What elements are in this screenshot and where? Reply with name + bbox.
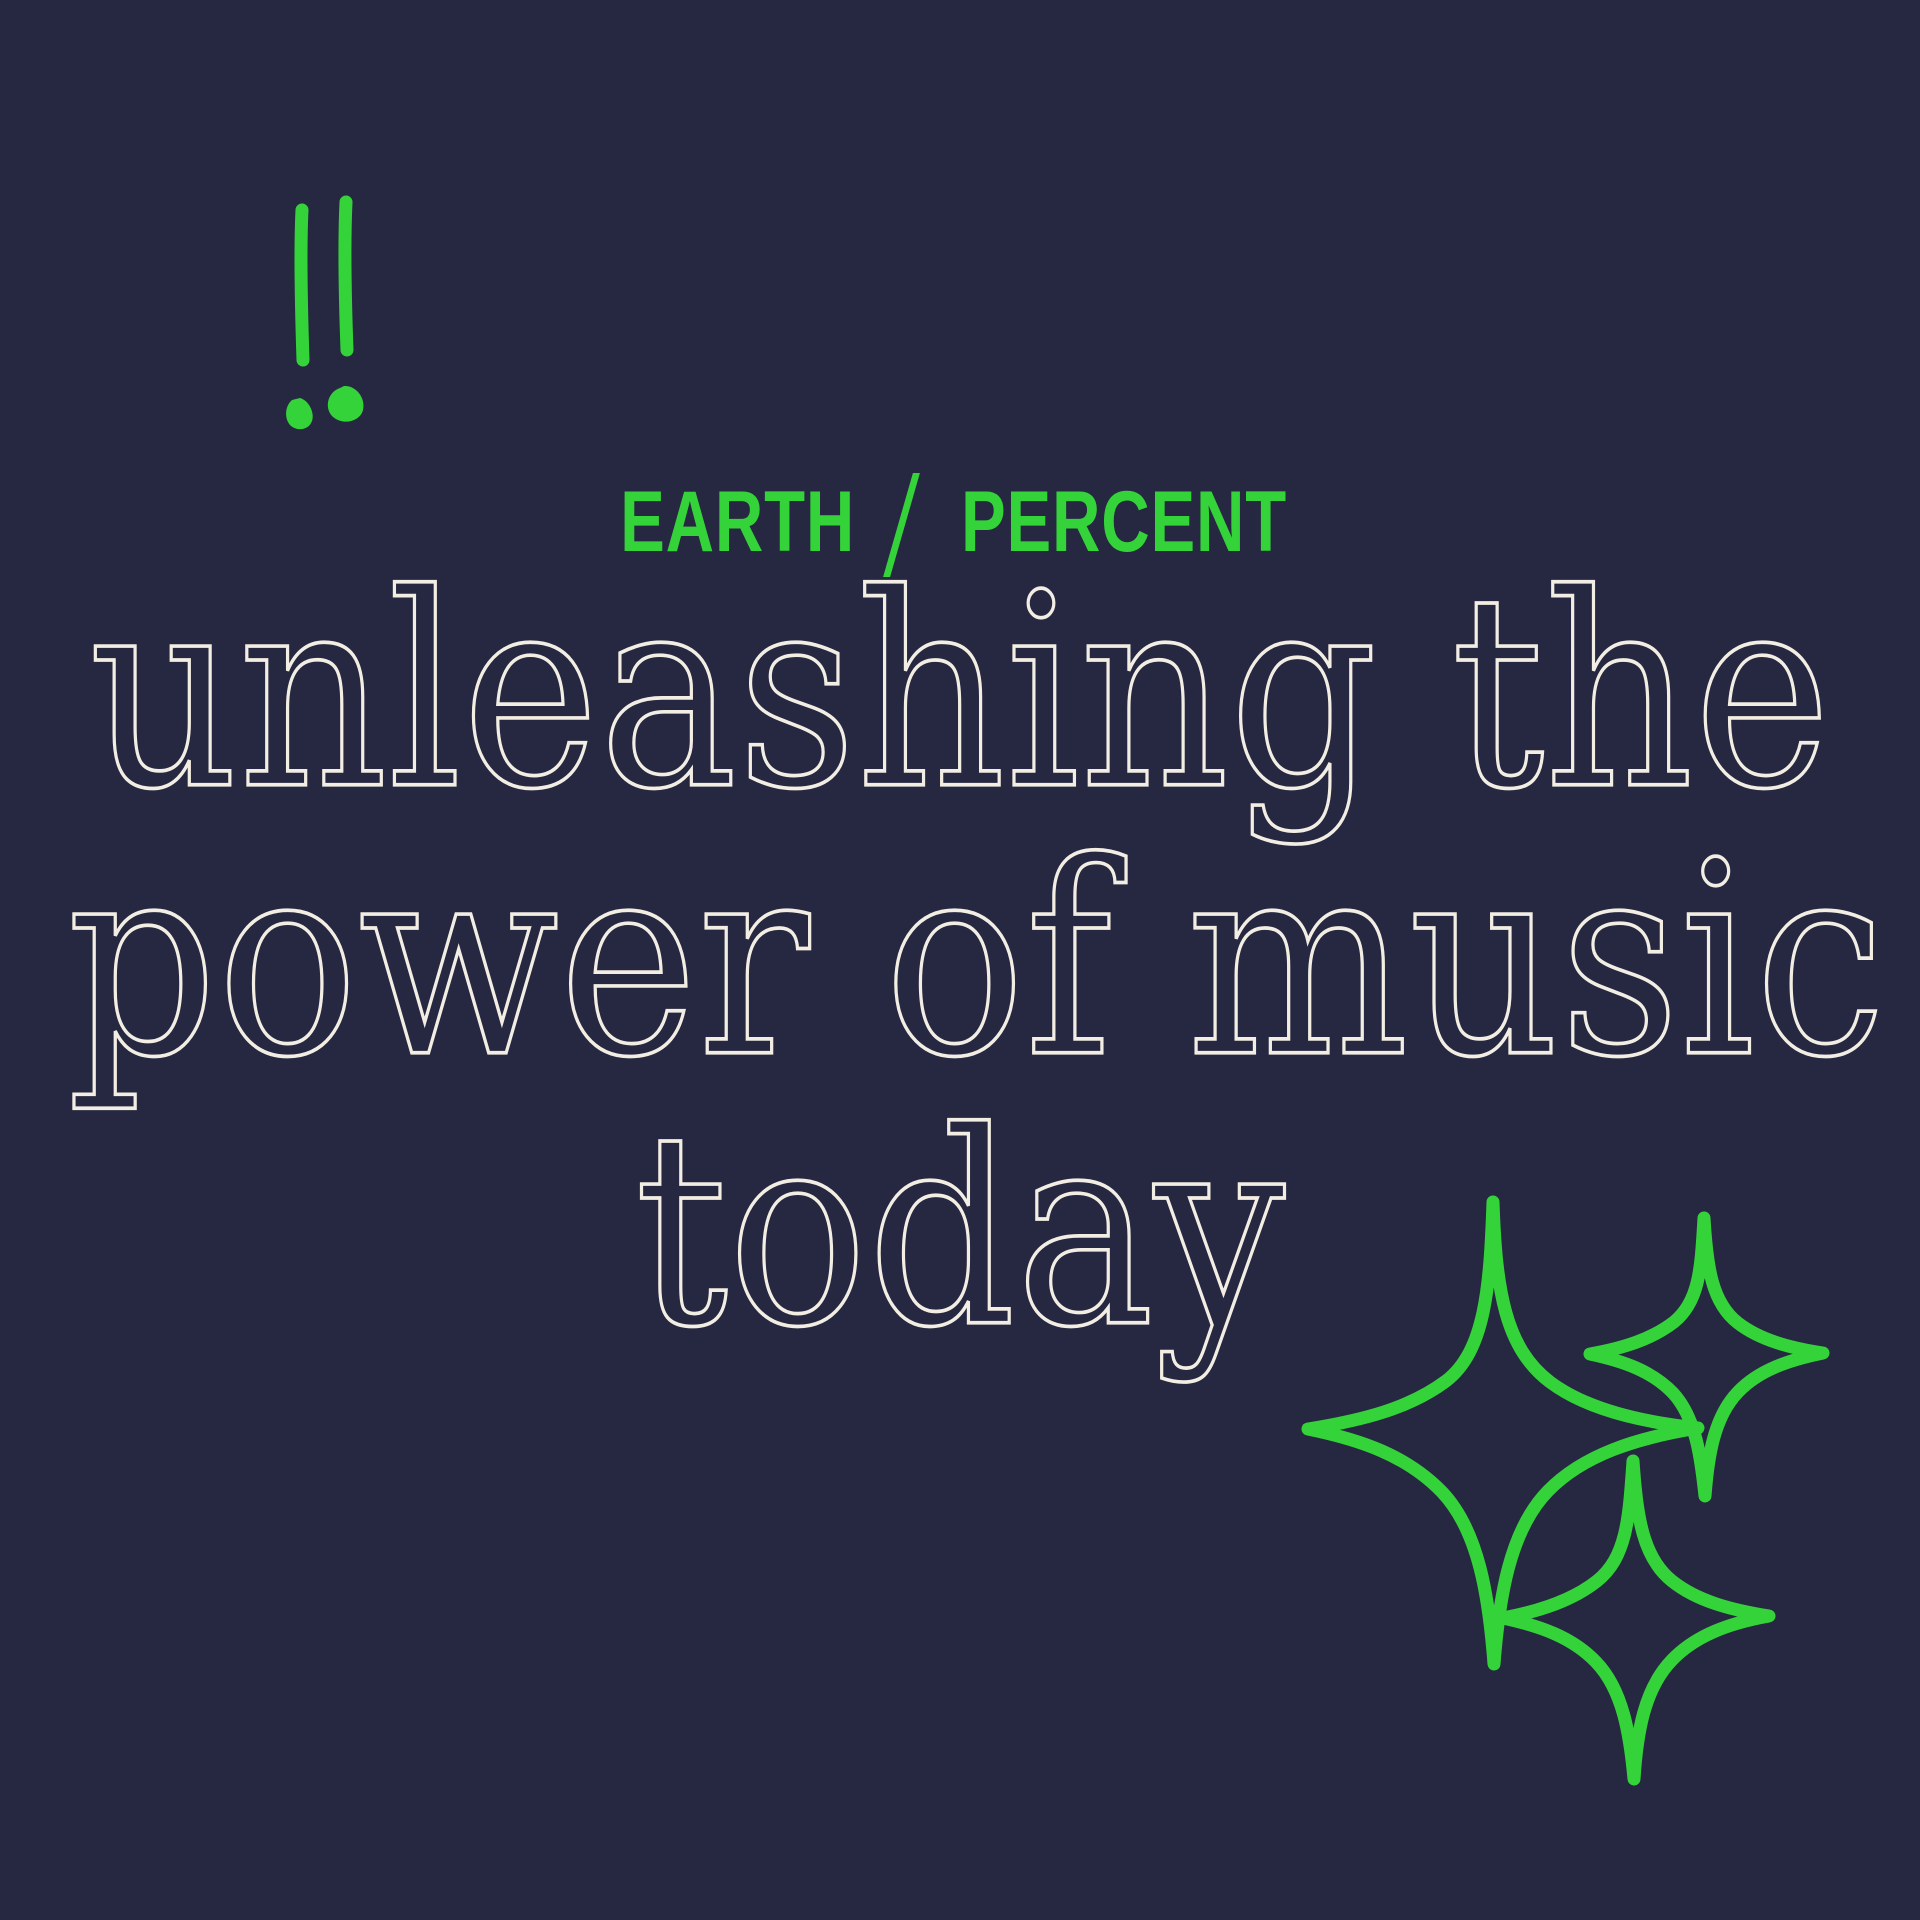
- sparkle-top-right: [1590, 1218, 1823, 1496]
- sparkle-cluster-icon: [1300, 1170, 1920, 1830]
- sparkle-bottom-right: [1503, 1461, 1769, 1779]
- headline-line-2: power of music: [67, 828, 1853, 1095]
- poster-canvas: EARTHPERCENT unleashing the power of mus…: [0, 0, 1920, 1920]
- headline-line-1: unleashing the: [77, 560, 1843, 827]
- sparkle-large: [1308, 1202, 1698, 1664]
- double-exclamation-mark-icon: [230, 150, 450, 440]
